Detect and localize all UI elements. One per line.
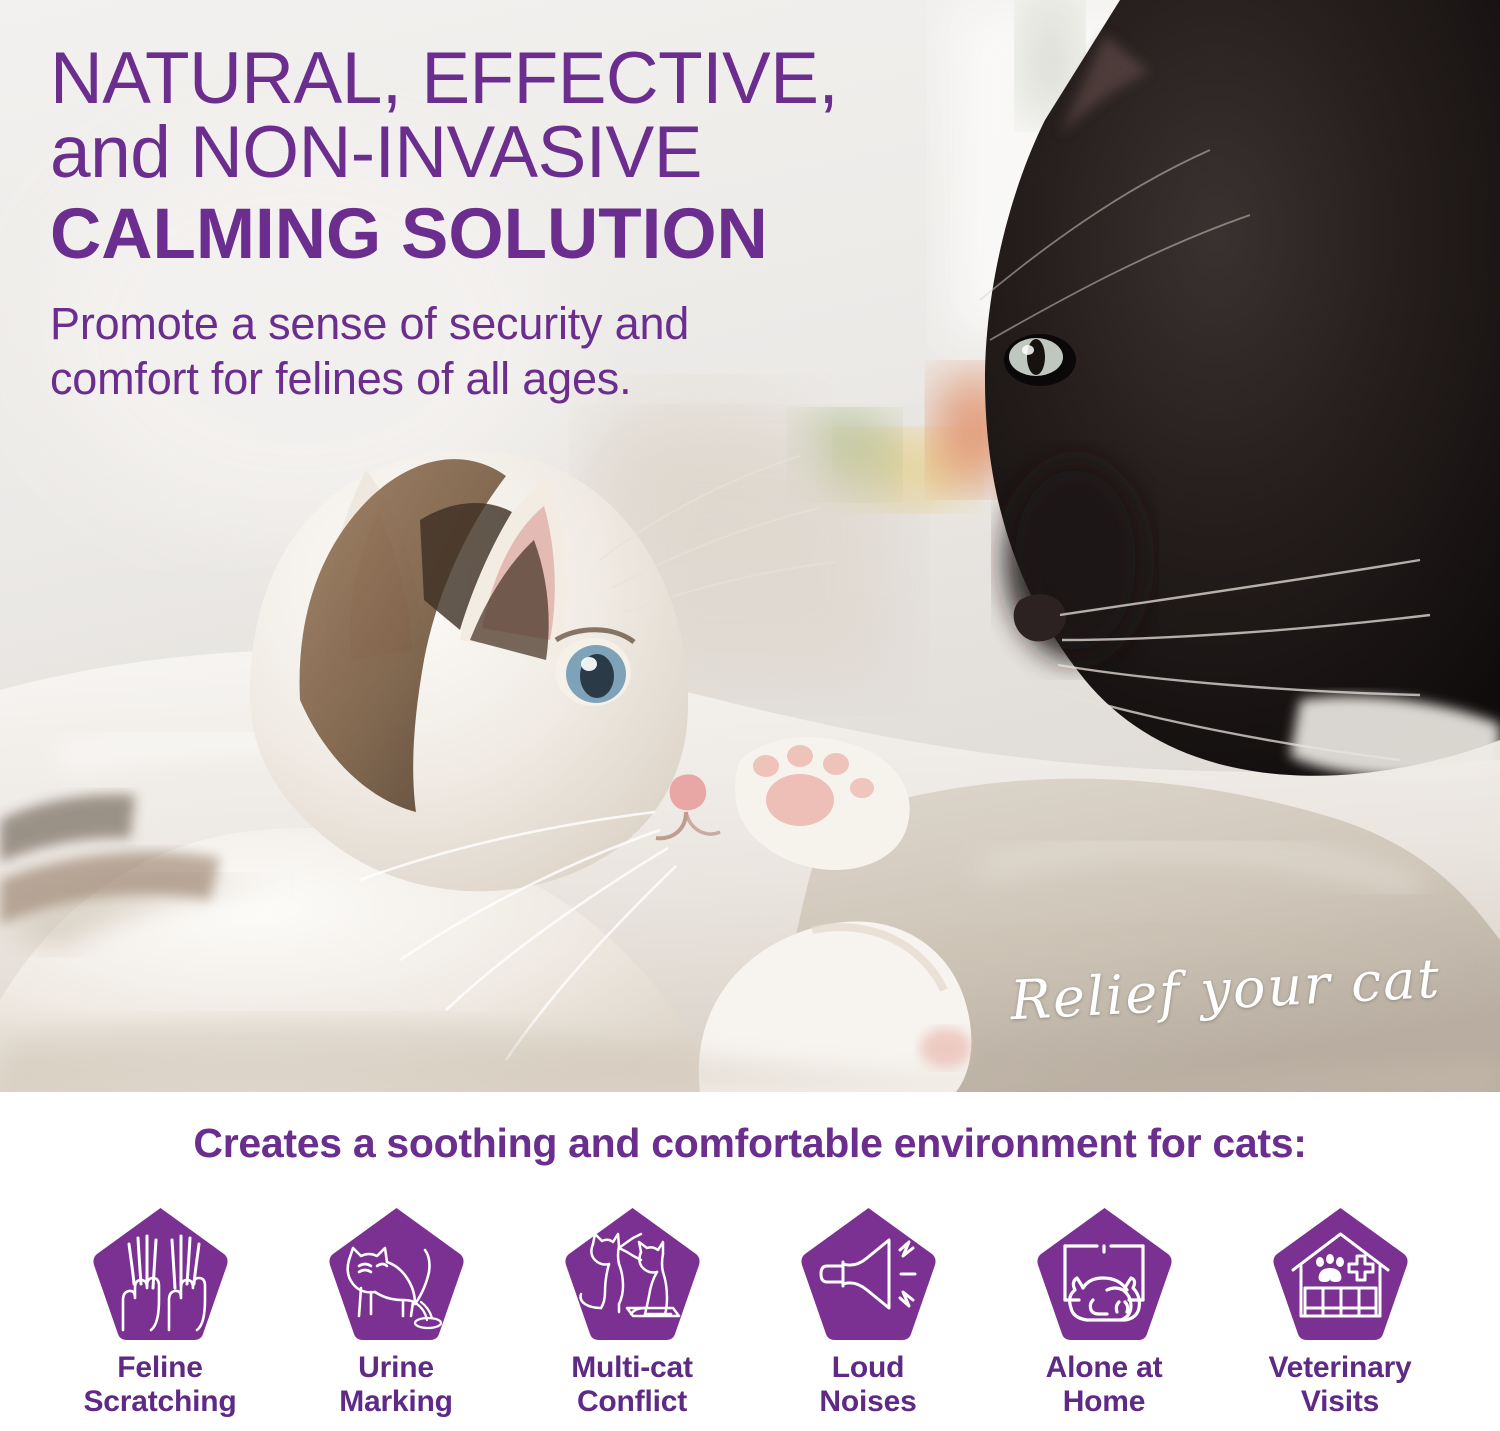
benefit-alone-at-home[interactable]: Alone atHome bbox=[1032, 1204, 1177, 1419]
benefit-label: Alone atHome bbox=[1046, 1351, 1163, 1419]
headline-emphasis: CALMING SOLUTION bbox=[50, 198, 950, 272]
benefit-feline-scratching[interactable]: FelineScratching bbox=[88, 1204, 233, 1419]
vet-clinic-icon bbox=[1269, 1204, 1412, 1342]
sleeping-cat-window-icon bbox=[1033, 1204, 1176, 1342]
headline-block: NATURAL, EFFECTIVE, and NON-INVASIVE CAL… bbox=[50, 42, 950, 406]
subtitle-line-2: comfort for felines of all ages. bbox=[50, 351, 950, 406]
benefit-label: Multi-catConflict bbox=[571, 1351, 693, 1419]
benefit-label: VeterinaryVisits bbox=[1268, 1351, 1411, 1419]
two-cats-fighting-icon bbox=[561, 1204, 704, 1342]
benefit-urine-marking[interactable]: UrineMarking bbox=[324, 1204, 469, 1419]
panel-title: Creates a soothing and comfortable envir… bbox=[0, 1120, 1500, 1167]
product-poster: NATURAL, EFFECTIVE, and NON-INVASIVE CAL… bbox=[0, 0, 1500, 1431]
headline-line-2: and NON-INVASIVE bbox=[50, 116, 950, 190]
cat-urinating-icon bbox=[325, 1204, 468, 1342]
benefit-label: FelineScratching bbox=[83, 1351, 236, 1419]
benefits-panel: Creates a soothing and comfortable envir… bbox=[0, 1092, 1500, 1431]
scratching-paws-icon bbox=[89, 1204, 232, 1342]
benefit-multi-cat-conflict[interactable]: Multi-catConflict bbox=[560, 1204, 705, 1419]
subtitle-line-1: Promote a sense of security and bbox=[50, 296, 950, 351]
benefit-label: UrineMarking bbox=[339, 1351, 453, 1419]
benefit-loud-noises[interactable]: LoudNoises bbox=[796, 1204, 941, 1419]
megaphone-icon bbox=[797, 1204, 940, 1342]
benefit-label: LoudNoises bbox=[819, 1351, 916, 1419]
hero-photo: NATURAL, EFFECTIVE, and NON-INVASIVE CAL… bbox=[0, 0, 1500, 1092]
benefit-badge-row: FelineScratching bbox=[0, 1204, 1500, 1419]
headline-line-1: NATURAL, EFFECTIVE, bbox=[50, 42, 950, 116]
benefit-veterinary-visits[interactable]: VeterinaryVisits bbox=[1268, 1204, 1413, 1419]
